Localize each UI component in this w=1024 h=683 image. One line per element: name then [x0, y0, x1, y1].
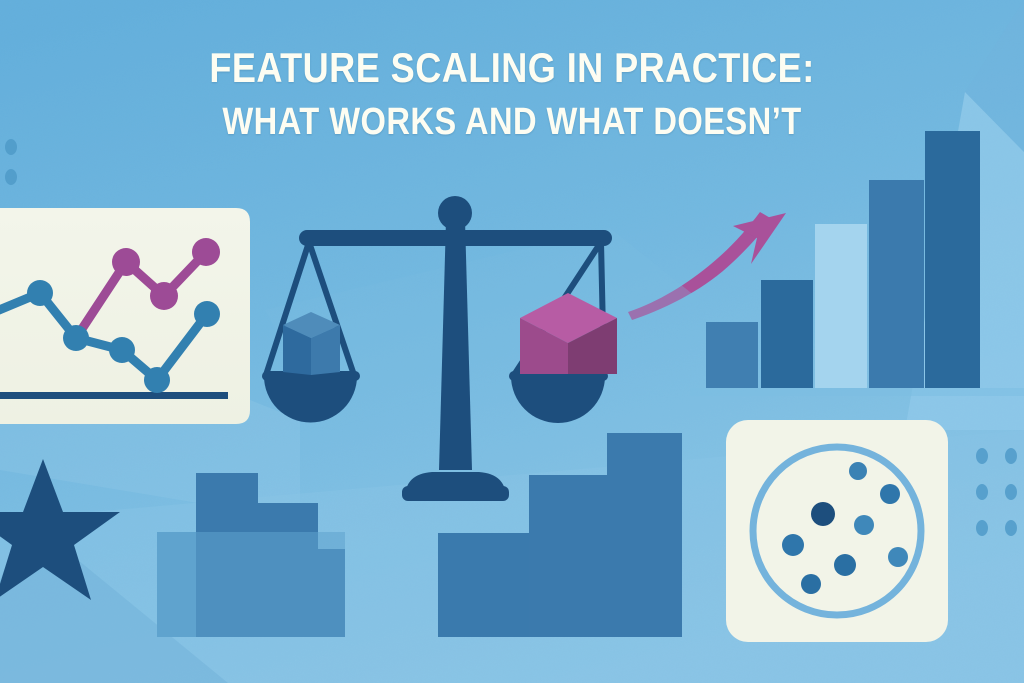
dot-patterns-layer	[0, 0, 1024, 683]
dot-pattern-right	[976, 448, 1017, 536]
poster-canvas: FEATURE SCALING IN PRACTICE: WHAT WORKS …	[0, 0, 1024, 683]
dot-pattern-left	[5, 139, 17, 185]
